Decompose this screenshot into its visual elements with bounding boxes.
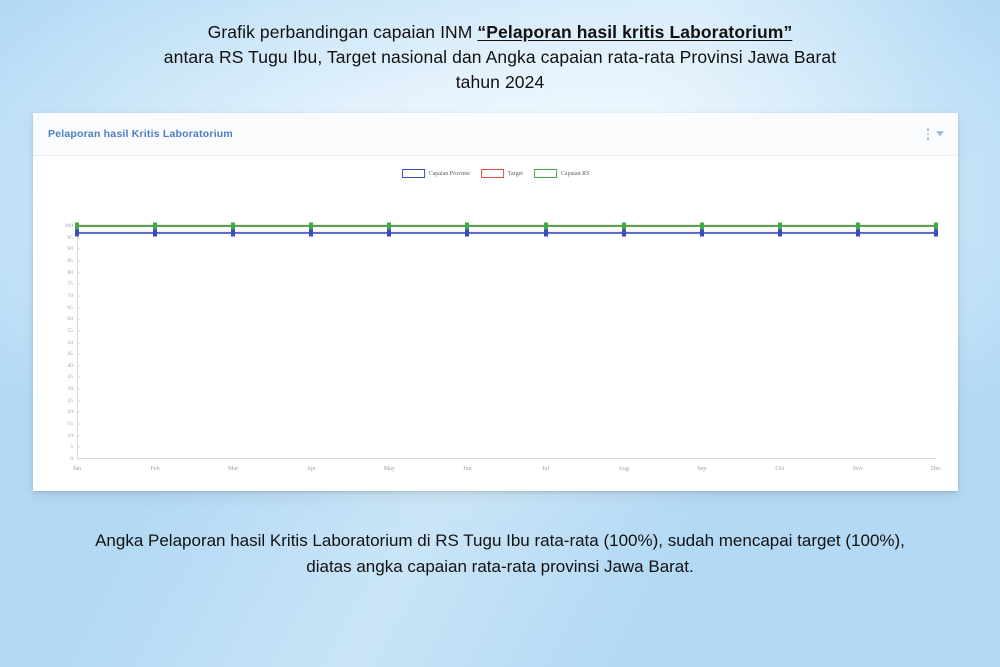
chart-data-point — [309, 223, 313, 230]
slide-title-line-1: Grafik perbandingan capaian INM “Pelapor… — [50, 20, 950, 45]
chart-data-point — [387, 229, 391, 236]
y-axis-tick-label: 10 — [67, 433, 73, 439]
slide-title: Grafik perbandingan capaian INM “Pelapor… — [50, 20, 950, 95]
x-axis-tick-label: Jul — [542, 465, 549, 472]
chart-data-point — [544, 229, 548, 236]
x-axis-tick-label: Nov — [853, 465, 864, 472]
y-axis-tick-label: 90 — [67, 246, 73, 252]
y-axis-tick-label: 100 — [65, 223, 73, 229]
kebab-dot — [927, 133, 930, 136]
chart-data-point — [622, 223, 626, 230]
chart-data-point — [856, 229, 860, 236]
x-axis-tick-label: Jan — [73, 465, 81, 472]
legend-swatch — [402, 169, 425, 178]
y-axis-tick-label: 20 — [67, 409, 73, 415]
chart-data-point — [778, 223, 782, 230]
y-axis-tick-mark — [77, 249, 80, 250]
legend-item[interactable]: Capaian Provinsi — [402, 169, 470, 178]
y-axis-tick-label: 65 — [67, 305, 73, 311]
y-axis-tick-label: 35 — [67, 374, 73, 380]
slide-title-line-3: tahun 2024 — [50, 70, 950, 95]
y-axis-tick-mark — [77, 377, 80, 378]
slide-title-prefix: Grafik perbandingan capaian INM — [208, 22, 478, 42]
legend-swatch — [481, 169, 504, 178]
y-axis-tick-mark — [77, 459, 80, 460]
y-axis-tick-label: 40 — [67, 363, 73, 369]
chart-data-point — [934, 229, 938, 236]
chart-data-point — [153, 229, 157, 236]
x-axis-tick-label: Mar — [228, 465, 238, 472]
chart-plot-area: 1009590858075706560555045403530252015105… — [77, 226, 936, 459]
chart-series-line — [77, 225, 936, 227]
y-axis-tick-label: 75 — [67, 281, 73, 287]
y-axis-tick-label: 30 — [67, 386, 73, 392]
y-axis-tick-label: 55 — [67, 328, 73, 334]
y-axis-tick-mark — [77, 412, 80, 413]
chart-data-point — [153, 223, 157, 230]
slide-title-emphasis: “Pelaporan hasil kritis Laboratorium” — [477, 22, 792, 42]
kebab-dot — [927, 137, 930, 140]
chart-data-point — [387, 223, 391, 230]
y-axis-tick-mark — [77, 319, 80, 320]
y-axis-tick-label: 85 — [67, 258, 73, 264]
x-axis-line — [77, 458, 936, 459]
chart-data-point — [465, 223, 469, 230]
y-axis-tick-label: 5 — [70, 444, 73, 450]
y-axis-tick-label: 25 — [67, 398, 73, 404]
y-axis-tick-mark — [77, 330, 80, 331]
chart-card-header: Pelaporan hasil Kritis Laboratorium — [33, 113, 958, 156]
y-axis-tick-mark — [77, 307, 80, 308]
chevron-down-icon[interactable] — [936, 132, 944, 137]
y-axis-tick-mark — [77, 342, 80, 343]
legend-label: Capaian Provinsi — [429, 171, 470, 177]
slide-title-line-2: antara RS Tugu Ibu, Target nasional dan … — [50, 45, 950, 70]
chart-data-point — [75, 229, 79, 236]
y-axis-tick-mark — [77, 237, 80, 238]
kebab-menu-icon[interactable] — [927, 128, 930, 140]
legend-item[interactable]: Target — [481, 169, 523, 178]
y-axis-tick-mark — [77, 424, 80, 425]
chart-data-point — [856, 223, 860, 230]
y-axis-tick-mark — [77, 389, 80, 390]
y-axis-tick-mark — [77, 272, 80, 273]
chart-data-point — [934, 223, 938, 230]
chart-series-line — [77, 232, 936, 234]
chart-data-point — [700, 223, 704, 230]
x-axis-tick-label: Oct — [775, 465, 784, 472]
chart-card-body: Capaian ProvinsiTargetCapaian RS 1009590… — [33, 156, 958, 491]
chart-legend: Capaian ProvinsiTargetCapaian RS — [402, 169, 590, 178]
y-axis-tick-mark — [77, 447, 80, 448]
x-axis-tick-label: Apr — [306, 465, 316, 472]
y-axis-tick-mark — [77, 354, 80, 355]
y-axis-tick-mark — [77, 400, 80, 401]
x-axis-tick-label: May — [384, 465, 395, 472]
y-axis-tick-label: 50 — [67, 340, 73, 346]
legend-swatch — [534, 169, 557, 178]
chart-data-point — [231, 229, 235, 236]
chart-data-point — [544, 223, 548, 230]
y-axis-tick-mark — [77, 284, 80, 285]
legend-label: Capaian RS — [561, 171, 590, 177]
x-axis-tick-label: Sep — [697, 465, 706, 472]
y-axis-tick-mark — [77, 295, 80, 296]
y-axis-tick-label: 70 — [67, 293, 73, 299]
y-axis-tick-label: 80 — [67, 270, 73, 276]
kebab-dot — [927, 128, 930, 131]
y-axis-tick-mark — [77, 260, 80, 261]
chart-data-point — [75, 223, 79, 230]
chart-data-point — [231, 223, 235, 230]
legend-item[interactable]: Capaian RS — [534, 169, 590, 178]
y-axis-tick-mark — [77, 365, 80, 366]
chart-data-point — [465, 229, 469, 236]
y-axis-tick-label: 0 — [70, 456, 73, 462]
y-axis-tick-mark — [77, 435, 80, 436]
x-axis-tick-label: Jun — [463, 465, 472, 472]
chart-card-actions — [927, 128, 945, 140]
chart-data-point — [778, 229, 782, 236]
x-axis-tick-label: Dec — [931, 465, 941, 472]
legend-label: Target — [508, 171, 523, 177]
y-axis-tick-label: 15 — [67, 421, 73, 427]
chart-card-title: Pelaporan hasil Kritis Laboratorium — [48, 128, 233, 140]
chart-card: Pelaporan hasil Kritis Laboratorium Capa… — [33, 113, 958, 491]
y-axis-tick-label: 95 — [67, 235, 73, 241]
chart-data-point — [309, 229, 313, 236]
x-axis-tick-label: Aug — [618, 465, 629, 472]
chart-data-point — [622, 229, 626, 236]
chart-data-point — [700, 229, 704, 236]
slide-caption: Angka Pelaporan hasil Kritis Laboratoriu… — [80, 528, 920, 580]
y-axis-tick-label: 45 — [67, 351, 73, 357]
x-axis-tick-label: Feb — [150, 465, 159, 472]
y-axis-tick-label: 60 — [67, 316, 73, 322]
